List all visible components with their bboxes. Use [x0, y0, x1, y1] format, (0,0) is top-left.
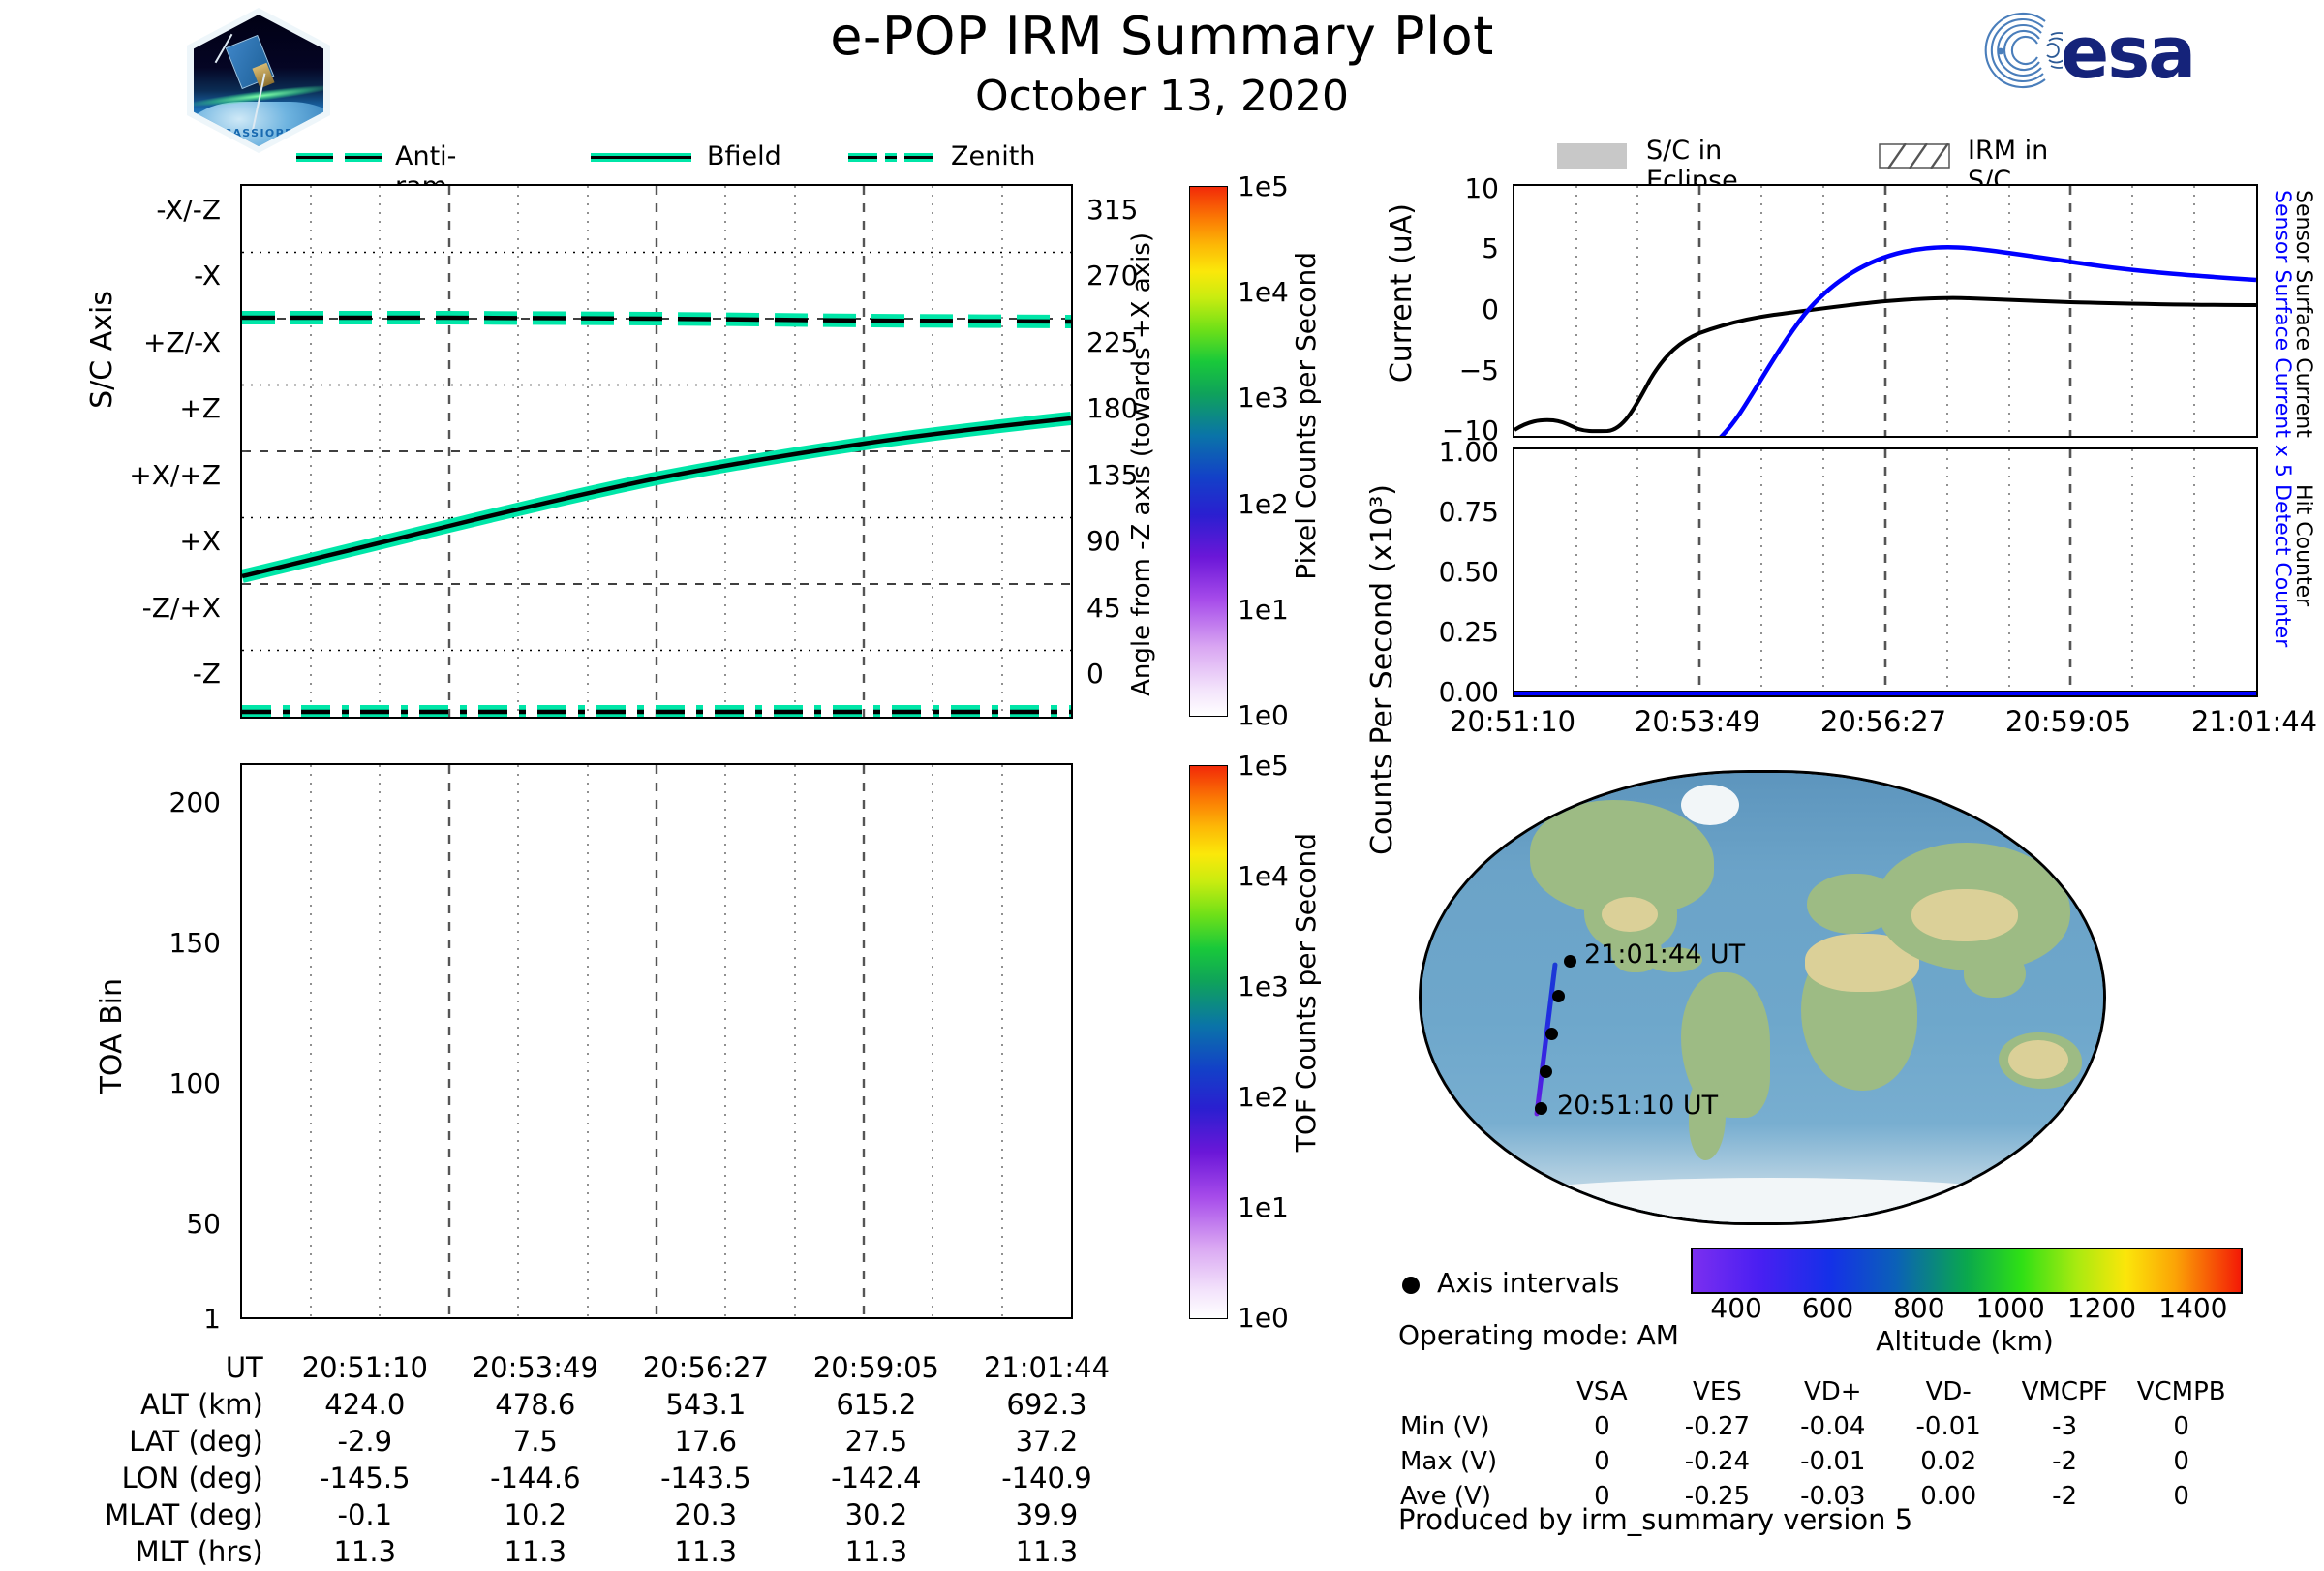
table-cell: 11.3 — [622, 1534, 790, 1569]
altitude-colorbar-label: Altitude (km) — [1691, 1325, 2239, 1357]
toa-ytick: 1 — [145, 1303, 221, 1335]
table-row: LAT (deg)-2.97.517.627.537.2 — [60, 1424, 1131, 1459]
table-cell: -143.5 — [622, 1461, 790, 1495]
sc-axis-right-ytick: 0 — [1086, 658, 1104, 690]
table-cell: 20:53:49 — [451, 1350, 620, 1385]
colorbar-tick: 1e5 — [1238, 170, 1289, 202]
time-tick: 21:01:44 — [2162, 705, 2324, 738]
counts-ytick: 0.25 — [1375, 616, 1499, 648]
counts-plot — [1513, 447, 2258, 697]
current-ylabel: Current (uA) — [1385, 203, 1419, 383]
table-cell: 37.2 — [963, 1424, 1131, 1459]
table-cell: 10.2 — [451, 1497, 620, 1532]
table-cell: 20:56:27 — [622, 1350, 790, 1385]
altitude-tick: 800 — [1871, 1292, 1968, 1324]
tof-counts-colorbar-label: TOF Counts per Second — [1290, 833, 1322, 1152]
table-cell: -2.9 — [281, 1424, 449, 1459]
table-cell: 0.02 — [1891, 1445, 2004, 1478]
table-cell: 615.2 — [792, 1387, 961, 1422]
current-ytick: −5 — [1420, 354, 1499, 386]
world-map: 21:01:44 UT 20:51:10 UT — [1419, 770, 2106, 1225]
toa-ytick: 150 — [145, 927, 221, 959]
table-cell: 0 — [1545, 1445, 1659, 1478]
table-cell: 17.6 — [622, 1424, 790, 1459]
time-tick: 20:51:10 — [1421, 705, 1605, 738]
table-row: UT20:51:1020:53:4920:56:2720:59:0521:01:… — [60, 1350, 1131, 1385]
table-cell: 21:01:44 — [963, 1350, 1131, 1385]
table-cell: 0 — [2124, 1410, 2239, 1443]
table-cell: 0 — [2124, 1480, 2239, 1513]
colorbar-tick: 1e4 — [1238, 860, 1289, 892]
table-cell: -2 — [2007, 1480, 2122, 1513]
table-cell: 692.3 — [963, 1387, 1131, 1422]
sc-axis-plot — [240, 184, 1073, 719]
table-cell: 478.6 — [451, 1387, 620, 1422]
row-label: UT — [60, 1350, 279, 1385]
colorbar-tick: 1e1 — [1238, 594, 1289, 626]
altitude-tick: 600 — [1780, 1292, 1877, 1324]
table-cell: -145.5 — [281, 1461, 449, 1495]
table-cell: -0.24 — [1661, 1445, 1774, 1478]
colorbar-tick: 1e4 — [1238, 276, 1289, 308]
current-plot-canvas — [1514, 186, 2256, 436]
sc-axis-right-ytick: 90 — [1086, 525, 1121, 557]
row-label: ALT (km) — [60, 1387, 279, 1422]
ground-track-map: 21:01:44 UT 20:51:10 UT — [1419, 770, 2106, 1225]
current-ytick: 0 — [1420, 293, 1499, 325]
sc-axis-ytick: -X — [0, 260, 221, 292]
table-cell: 30.2 — [792, 1497, 961, 1532]
counts-ytick: 0.75 — [1375, 496, 1499, 528]
column-header: VES — [1661, 1375, 1774, 1408]
table-cell: 0 — [1545, 1410, 1659, 1443]
sc-axis-plot-canvas — [242, 186, 1071, 717]
track-marker — [1535, 1102, 1547, 1115]
eclipse-swatch — [1557, 143, 1627, 169]
cassiope-mission-badge: CASSIOPE — [187, 8, 330, 153]
pixel-counts-colorbar — [1189, 186, 1228, 717]
counts-ylabel: Counts Per Second (x10³) — [1367, 484, 1398, 855]
colorbar-tick: 1e3 — [1238, 382, 1289, 414]
row-label: Min (V) — [1400, 1410, 1544, 1443]
colorbar-tick: 1e2 — [1238, 1081, 1289, 1113]
table-cell: 27.5 — [792, 1424, 961, 1459]
column-header: VD+ — [1776, 1375, 1889, 1408]
column-header: VCMPB — [2124, 1375, 2239, 1408]
colorbar-tick: 1e3 — [1238, 970, 1289, 1002]
table-cell: -0.01 — [1891, 1410, 2004, 1443]
cassiope-badge-label: CASSIOPE — [194, 127, 323, 139]
track-marker — [1540, 1065, 1552, 1078]
sc-axis-ytick: +X/+Z — [0, 459, 221, 491]
footer-produced-by: Produced by irm_summary version 5 — [1398, 1503, 1912, 1536]
legend-label-zenith: Zenith — [951, 141, 1035, 171]
colorbar-tick: 1e1 — [1238, 1191, 1289, 1223]
track-start-label: 20:51:10 UT — [1557, 1091, 1718, 1121]
altitude-tick: 1400 — [2145, 1292, 2242, 1324]
table-cell: -0.27 — [1661, 1410, 1774, 1443]
row-label: LON (deg) — [60, 1461, 279, 1495]
tof-counts-colorbar — [1189, 765, 1228, 1319]
shadow-hatch-swatch — [1879, 143, 1950, 169]
table-cell: -140.9 — [963, 1461, 1131, 1495]
table-row: Max (V)0-0.24-0.010.02-20 — [1400, 1445, 2239, 1478]
colorbar-tick: 1e0 — [1238, 699, 1289, 731]
table-cell: -142.4 — [792, 1461, 961, 1495]
table-cell: 7.5 — [451, 1424, 620, 1459]
altitude-tick: 400 — [1688, 1292, 1785, 1324]
pixel-counts-colorbar-label: Pixel Counts per Second — [1290, 252, 1322, 580]
counts-ytick: 0.50 — [1375, 556, 1499, 588]
table-row: ALT (km)424.0478.6543.1615.2692.3 — [60, 1387, 1131, 1422]
table-cell: 11.3 — [281, 1534, 449, 1569]
column-header: VSA — [1545, 1375, 1659, 1408]
track-marker — [1564, 955, 1576, 968]
esa-wordmark: esa — [2061, 12, 2194, 95]
table-row: Min (V)0-0.27-0.04-0.01-30 — [1400, 1410, 2239, 1443]
legend-label-bfield: Bfield — [707, 141, 781, 171]
toa-ylabel: TOA Bin — [95, 978, 129, 1094]
time-tick: 20:56:27 — [1791, 705, 1975, 738]
toa-bin-plot — [240, 763, 1073, 1319]
row-label: MLT (hrs) — [60, 1534, 279, 1569]
table-cell: 543.1 — [622, 1387, 790, 1422]
sc-axis-ytick: -Z/+X — [0, 592, 221, 624]
toa-ytick: 200 — [145, 786, 221, 818]
table-cell: 20.3 — [622, 1497, 790, 1532]
row-label: MLAT (deg) — [60, 1497, 279, 1532]
current-plot — [1513, 184, 2258, 438]
sc-axis-ytick: -Z — [0, 658, 221, 690]
table-cell: 20:51:10 — [281, 1350, 449, 1385]
altitude-colorbar — [1691, 1248, 2243, 1294]
row-label: Max (V) — [1400, 1445, 1544, 1478]
sc-axis-ytick: +Z — [0, 392, 221, 424]
series-anti-ram — [242, 318, 1071, 322]
axis-intervals-legend-label: Axis intervals — [1437, 1267, 1619, 1299]
corner-cell — [1400, 1375, 1544, 1408]
table-row: LON (deg)-145.5-144.6-143.5-142.4-140.9 — [60, 1461, 1131, 1495]
voltage-table: VSAVESVD+VD-VMCPFVCMPBMin (V)0-0.27-0.04… — [1398, 1373, 2241, 1515]
colorbar-tick: 1e2 — [1238, 488, 1289, 520]
table-cell: 11.3 — [451, 1534, 620, 1569]
esa-logo: esa — [1975, 8, 2256, 93]
sc-axis-right-axis-label: Angle from -Z axis (towards +X axis) — [1127, 232, 1156, 696]
altitude-tick: 1200 — [2054, 1292, 2151, 1324]
column-header: VMCPF — [2007, 1375, 2122, 1408]
table-cell: -0.1 — [281, 1497, 449, 1532]
colorbar-tick: 1e0 — [1238, 1302, 1289, 1334]
sc-axis-right-ytick: 45 — [1086, 592, 1121, 624]
current-right-label-black: Sensor Surface Current — [2291, 190, 2315, 438]
track-marker — [1552, 990, 1565, 1002]
table-header-row: VSAVESVD+VD-VMCPFVCMPB — [1400, 1375, 2239, 1408]
track-end-label: 21:01:44 UT — [1584, 940, 1745, 970]
table-cell: -0.04 — [1776, 1410, 1889, 1443]
table-cell: -0.01 — [1776, 1445, 1889, 1478]
row-label: LAT (deg) — [60, 1424, 279, 1459]
table-cell: 424.0 — [281, 1387, 449, 1422]
current-ytick: 10 — [1420, 172, 1499, 204]
sc-axis-ytick: -X/-Z — [0, 194, 221, 226]
table-row: MLT (hrs)11.311.311.311.311.3 — [60, 1534, 1131, 1569]
toa-bin-plot-canvas — [242, 765, 1071, 1317]
table-cell: 39.9 — [963, 1497, 1131, 1532]
toa-ytick: 100 — [145, 1067, 221, 1099]
ephemeris-table: UT20:51:1020:53:4920:56:2720:59:0521:01:… — [58, 1348, 1133, 1571]
colorbar-tick: 1e5 — [1238, 750, 1289, 782]
counts-ytick: 0.00 — [1375, 676, 1499, 708]
axis-interval-marker-icon — [1402, 1277, 1420, 1294]
table-cell: 11.3 — [792, 1534, 961, 1569]
counts-right-label-black: Hit Counter — [2291, 484, 2315, 606]
operating-mode-label: Operating mode: AM — [1398, 1319, 1679, 1351]
column-header: VD- — [1891, 1375, 2004, 1408]
track-marker — [1545, 1028, 1558, 1040]
table-cell: 0 — [2124, 1445, 2239, 1478]
time-tick: 20:53:49 — [1605, 705, 1789, 738]
sc-axis-ytick: +Z/-X — [0, 326, 221, 358]
sc-axis-ytick: +X — [0, 525, 221, 557]
table-cell: 11.3 — [963, 1534, 1131, 1569]
current-ytick: 5 — [1420, 232, 1499, 264]
sc-axis-right-ytick: 315 — [1086, 194, 1138, 226]
table-cell: -3 — [2007, 1410, 2122, 1443]
time-tick: 20:59:05 — [1976, 705, 2160, 738]
table-row: MLAT (deg)-0.110.220.330.239.9 — [60, 1497, 1131, 1532]
toa-ytick: 50 — [145, 1208, 221, 1240]
counts-plot-canvas — [1514, 449, 2256, 695]
table-cell: -2 — [2007, 1445, 2122, 1478]
esa-spiral-icon — [1975, 10, 2063, 91]
table-cell: -144.6 — [451, 1461, 620, 1495]
table-cell: 20:59:05 — [792, 1350, 961, 1385]
counts-ytick: 1.00 — [1375, 436, 1499, 468]
altitude-tick: 1000 — [1962, 1292, 2059, 1324]
